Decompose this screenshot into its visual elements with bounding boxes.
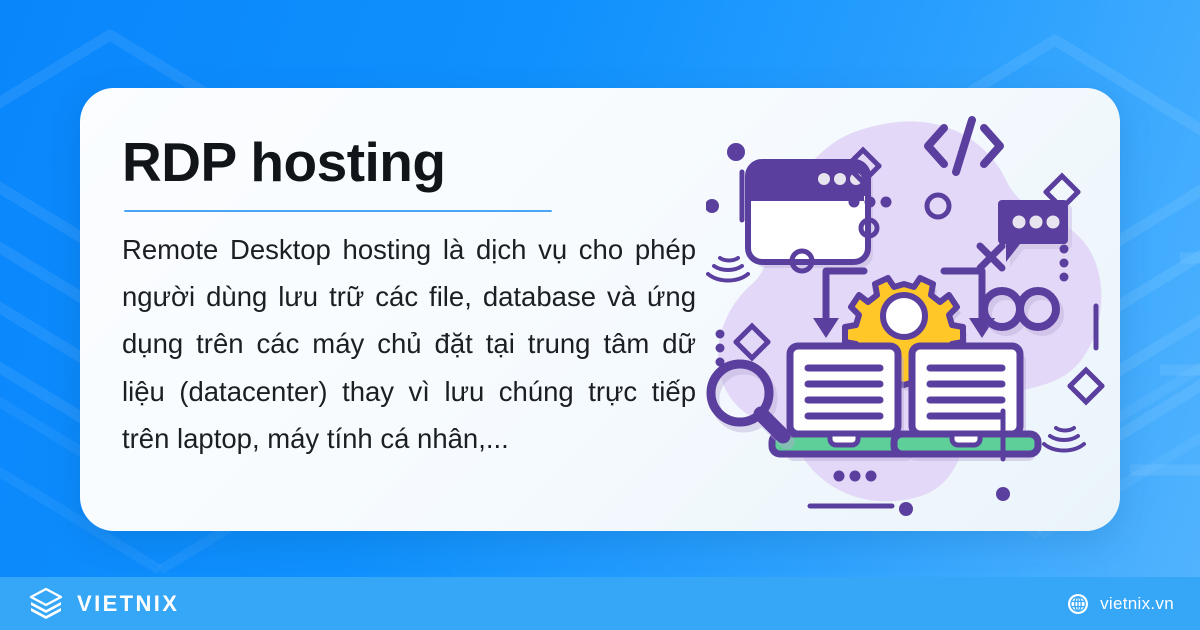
- wifi-waves-left-icon: [708, 258, 748, 280]
- page-canvas: RDP hosting Remote Desktop hosting là dị…: [0, 0, 1200, 630]
- brand-logo[interactable]: VIETNIX: [28, 586, 179, 622]
- content-card: RDP hosting Remote Desktop hosting là dị…: [80, 88, 1120, 531]
- body-description: Remote Desktop hosting là dịch vụ cho ph…: [122, 226, 696, 462]
- dots-decoration-top: [849, 197, 892, 208]
- dot-decoration-b: [706, 199, 719, 213]
- dots-decoration-right: [1060, 245, 1069, 282]
- dot-decoration-c: [899, 502, 913, 516]
- website-name: vietnix.vn: [1100, 594, 1174, 614]
- dots-decoration-left: [716, 330, 725, 367]
- dots-decoration-bottom: [834, 471, 877, 482]
- brand-name: VIETNIX: [77, 591, 179, 617]
- globe-icon: [1067, 593, 1089, 615]
- dot-decoration-a: [727, 143, 745, 161]
- layers-logo-icon: [28, 586, 64, 622]
- wifi-waves-right-icon: [1044, 428, 1084, 450]
- rdp-hosting-illustration: [706, 106, 1120, 518]
- page-title: RDP hosting: [122, 134, 700, 192]
- title-divider: [124, 210, 552, 212]
- laptop-icon-right: [894, 346, 1038, 461]
- footer-bar: VIETNIX vietnix.vn: [0, 577, 1200, 630]
- dot-decoration-d: [996, 487, 1010, 501]
- text-column: RDP hosting Remote Desktop hosting là dị…: [80, 88, 700, 531]
- diamond-decoration-d: [1070, 370, 1102, 402]
- website-link[interactable]: vietnix.vn: [1067, 593, 1174, 615]
